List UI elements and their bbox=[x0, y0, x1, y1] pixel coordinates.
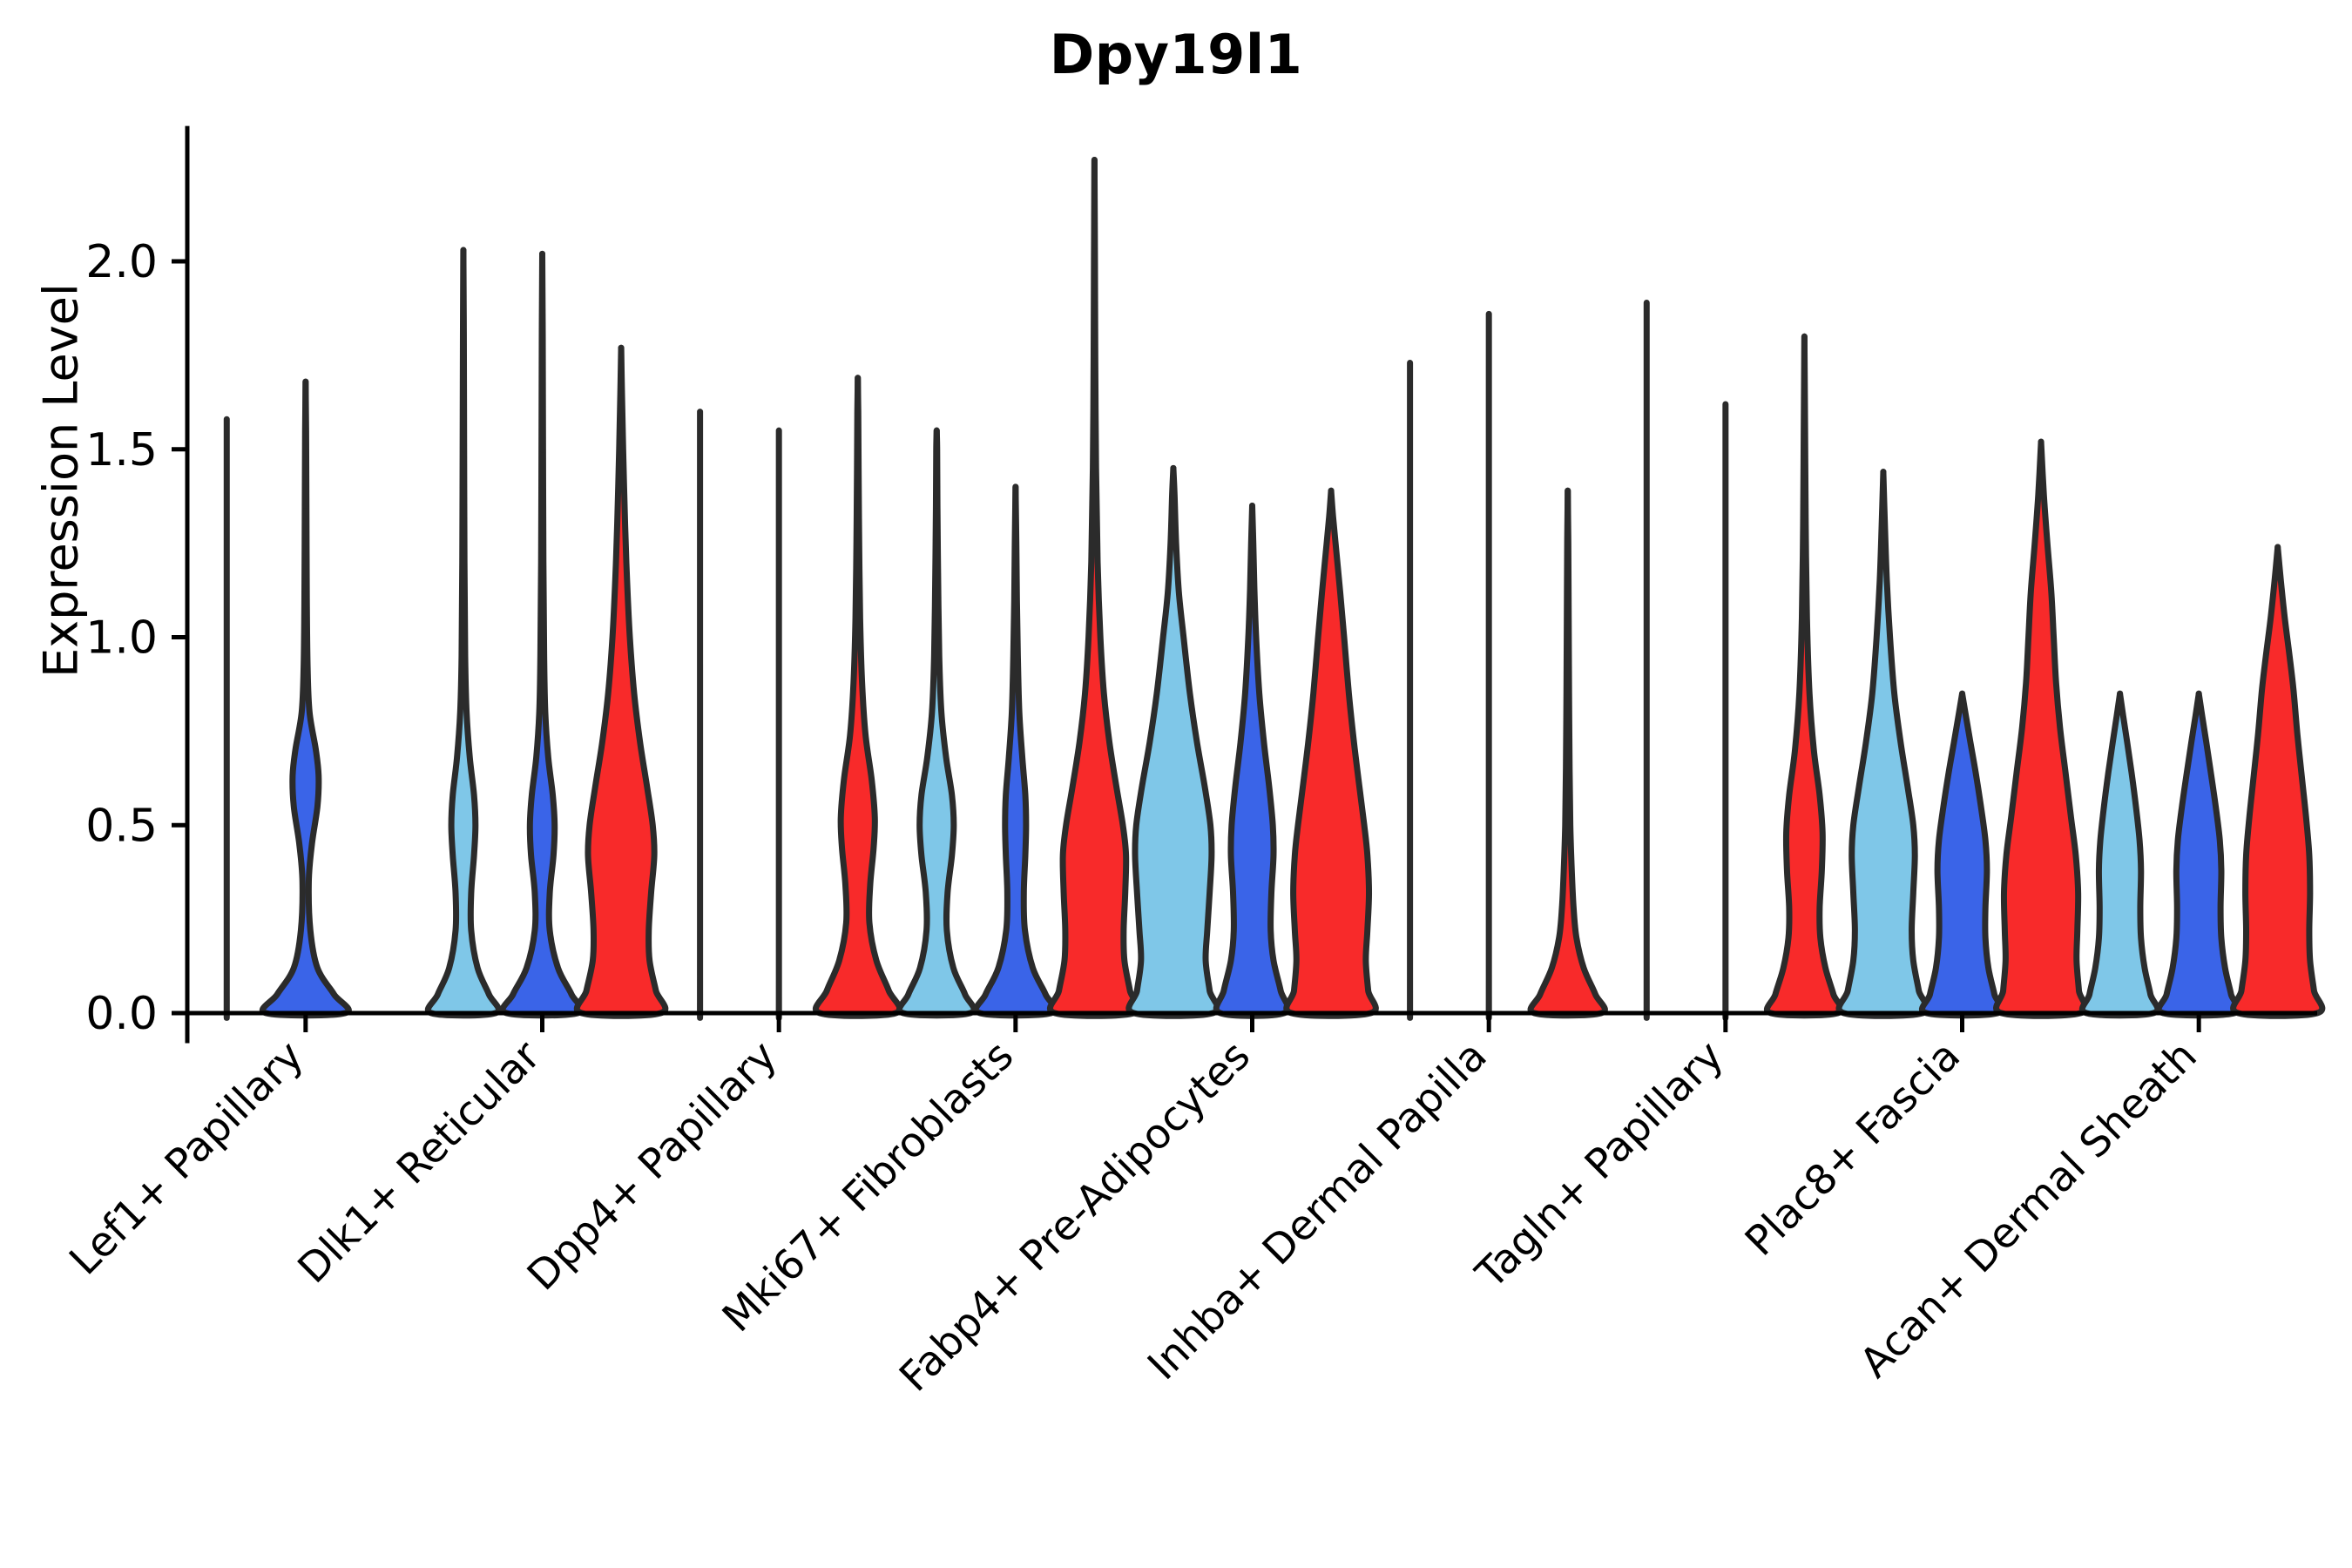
violin-series-3-8 bbox=[2234, 547, 2322, 1016]
violin-body bbox=[1922, 693, 2002, 1015]
violin-series-1-1 bbox=[428, 250, 498, 1016]
x-tick-label-2: Dpp4+ Papillary bbox=[518, 1032, 787, 1301]
x-tick-label-0: Lef1+ Papillary bbox=[60, 1032, 313, 1285]
plot-canvas: 0.00.51.01.52.0 Lef1+ PapillaryDlk1+ Ret… bbox=[0, 0, 2352, 1568]
violin-series-2-8 bbox=[2159, 693, 2239, 1015]
violin-series-1-3 bbox=[899, 430, 974, 1016]
violin-plot-figure: Dpy19l1 Expression Level 0.00.51.01.52.0… bbox=[0, 0, 2352, 1568]
violin-body bbox=[577, 348, 666, 1016]
y-tick-label: 0.0 bbox=[85, 988, 158, 1040]
violin-series-2-7 bbox=[1922, 693, 2002, 1015]
violin-body bbox=[976, 487, 1055, 1016]
violin-series-3-5 bbox=[1531, 490, 1605, 1015]
violin-body bbox=[1216, 505, 1288, 1016]
violin-series-3-4 bbox=[1287, 490, 1376, 1016]
violin-body bbox=[1839, 472, 1928, 1017]
violin-body bbox=[1996, 442, 2085, 1016]
violin-series-3-6 bbox=[1767, 336, 1842, 1015]
violin-series-3-3 bbox=[1050, 159, 1139, 1016]
y-tick-label: 2.0 bbox=[85, 236, 158, 288]
x-tick-labels: Lef1+ PapillaryDlk1+ ReticularDpp4+ Papi… bbox=[60, 1031, 2206, 1401]
violins-layer bbox=[226, 159, 2322, 1017]
y-tick-labels: 0.00.51.01.52.0 bbox=[85, 236, 158, 1040]
violin-series-1-4 bbox=[1129, 468, 1218, 1016]
x-tick-label-7: Plac8+ Fascia bbox=[1736, 1032, 1970, 1266]
violin-body bbox=[815, 378, 900, 1016]
x-tick-label-1: Dlk1+ Reticular bbox=[289, 1031, 551, 1293]
violin-series-3-2 bbox=[815, 378, 900, 1016]
violin-series-2-1 bbox=[503, 253, 582, 1015]
violin-series-1-7 bbox=[1839, 472, 1928, 1017]
violin-series-2-4 bbox=[1216, 505, 1288, 1016]
y-tick-label: 0.5 bbox=[85, 800, 158, 852]
violin-body bbox=[2082, 693, 2158, 1015]
y-tick-label: 1.5 bbox=[85, 424, 158, 476]
violin-body bbox=[899, 430, 974, 1016]
violin-series-2-3 bbox=[976, 487, 1055, 1016]
violin-body bbox=[1287, 490, 1376, 1016]
violin-body bbox=[2234, 547, 2322, 1016]
y-tick-label: 1.0 bbox=[85, 612, 158, 665]
violin-series-2-0 bbox=[262, 382, 348, 1016]
violin-body bbox=[1129, 468, 1218, 1016]
violin-body bbox=[2159, 693, 2239, 1015]
violin-series-3-7 bbox=[1996, 442, 2085, 1016]
violin-body bbox=[1767, 336, 1842, 1015]
violin-series-1-8 bbox=[2082, 693, 2158, 1015]
violin-series-3-1 bbox=[577, 348, 666, 1016]
x-tick-label-6: Tagln+ Papillary bbox=[1466, 1032, 1733, 1299]
